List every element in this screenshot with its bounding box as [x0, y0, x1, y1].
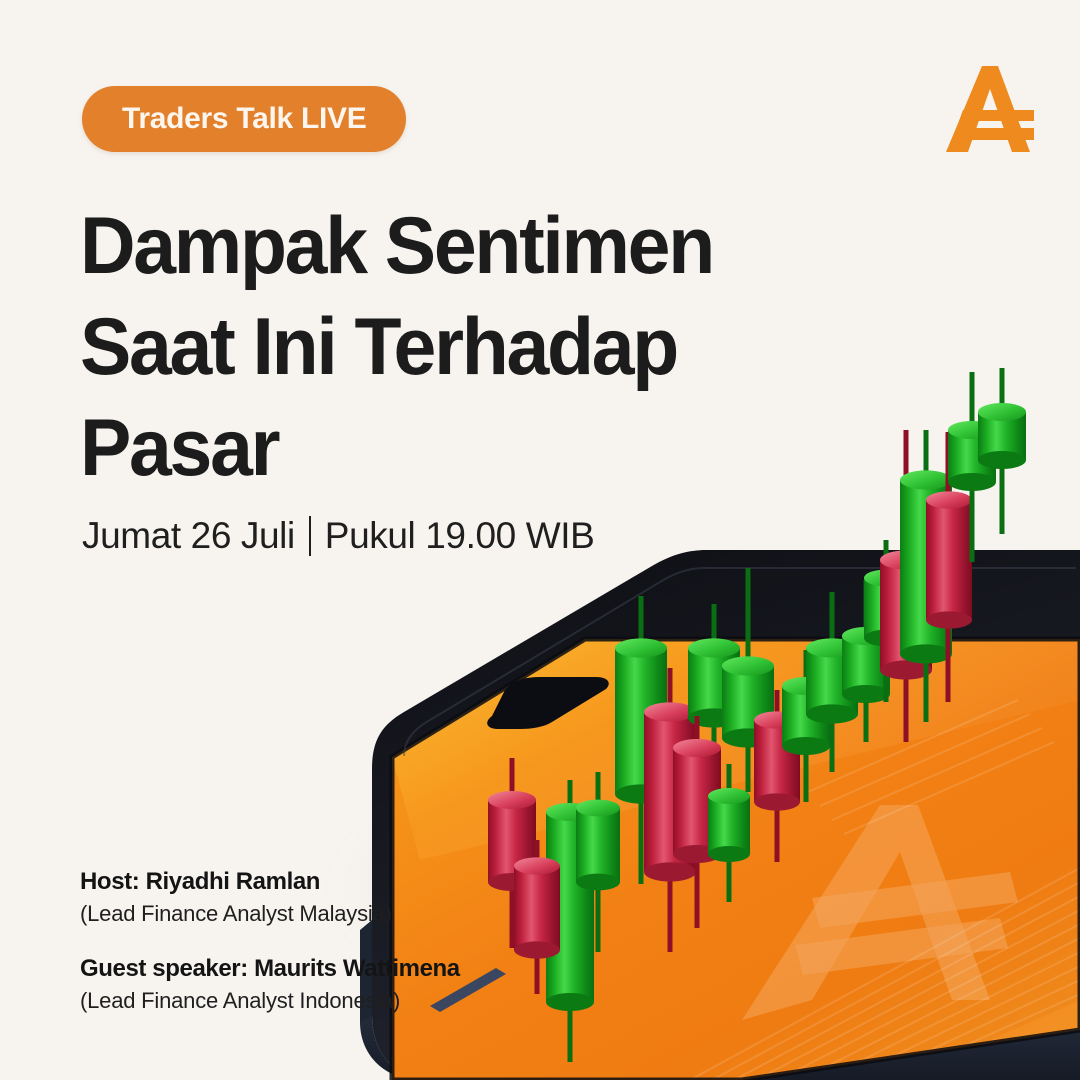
- candle-bull-4: [576, 772, 620, 952]
- page-title: Dampak Sentimen Saat Ini Terhadap Pasar: [80, 196, 800, 499]
- candle-bull-9: [708, 764, 750, 902]
- schedule-date: Jumat 26 Juli: [82, 515, 295, 557]
- schedule-separator: [309, 516, 311, 556]
- candle-bull-12: [782, 650, 830, 802]
- candle-bear-1: [488, 758, 536, 948]
- candle-bull-7: [688, 604, 740, 804]
- headline-line-3: Pasar: [80, 398, 764, 499]
- candle-bear-11: [754, 690, 800, 862]
- traders-talk-live-badge[interactable]: Traders Talk LIVE: [82, 86, 406, 152]
- credit-host-role: (Lead Finance Analyst Malaysia): [80, 901, 460, 927]
- screen-watermark-a-icon: [742, 805, 1018, 1020]
- candle-bull-14: [842, 580, 890, 742]
- candle-bull-2: [546, 780, 594, 1062]
- credit-guest: Guest speaker: Maurits Wattimena (Lead F…: [80, 955, 460, 1014]
- candle-bull-5: [615, 596, 667, 884]
- credit-guest-role: (Lead Finance Analyst Indonesia): [80, 988, 460, 1014]
- headline-line-2: Saat Ini Terhadap: [80, 297, 764, 398]
- phone-contact-shadow: [380, 840, 1000, 1080]
- credits-block: Host: Riyadhi Ramlan (Lead Finance Analy…: [80, 868, 460, 1014]
- credit-host-name: Host: Riyadhi Ramlan: [80, 868, 460, 896]
- candle-bull-15: [864, 540, 908, 702]
- headline-line-1: Dampak Sentimen: [80, 196, 764, 297]
- candle-bull-19: [948, 372, 996, 562]
- schedule-time: Pukul 19.00 WIB: [325, 515, 595, 557]
- badge-label: Traders Talk LIVE: [122, 102, 366, 136]
- schedule-row: Jumat 26 Juli Pukul 19.00 WIB: [82, 515, 594, 557]
- screen-line-texture: [690, 700, 1080, 1080]
- candle-bear-18: [926, 432, 972, 702]
- credit-guest-name: Guest speaker: Maurits Wattimena: [80, 955, 460, 983]
- phone-screen: [392, 639, 1080, 1080]
- candle-bear-3: [514, 840, 560, 994]
- candle-bull-13: [806, 592, 858, 772]
- candle-bull-17: [900, 430, 952, 722]
- candle-bear-16: [880, 430, 932, 742]
- candle-bull-20: [978, 368, 1026, 534]
- phone-notch: [487, 677, 609, 729]
- phone-device: [360, 550, 1080, 1080]
- candle-bull-10: [722, 568, 774, 792]
- poster-canvas: Traders Talk LIVE Dampak Sentimen Saat I…: [0, 0, 1080, 1080]
- credit-host: Host: Riyadhi Ramlan (Lead Finance Analy…: [80, 868, 460, 927]
- brand-logo-a-icon: [938, 58, 1042, 162]
- candle-bear-8: [673, 716, 721, 928]
- candle-bear-6: [644, 668, 696, 952]
